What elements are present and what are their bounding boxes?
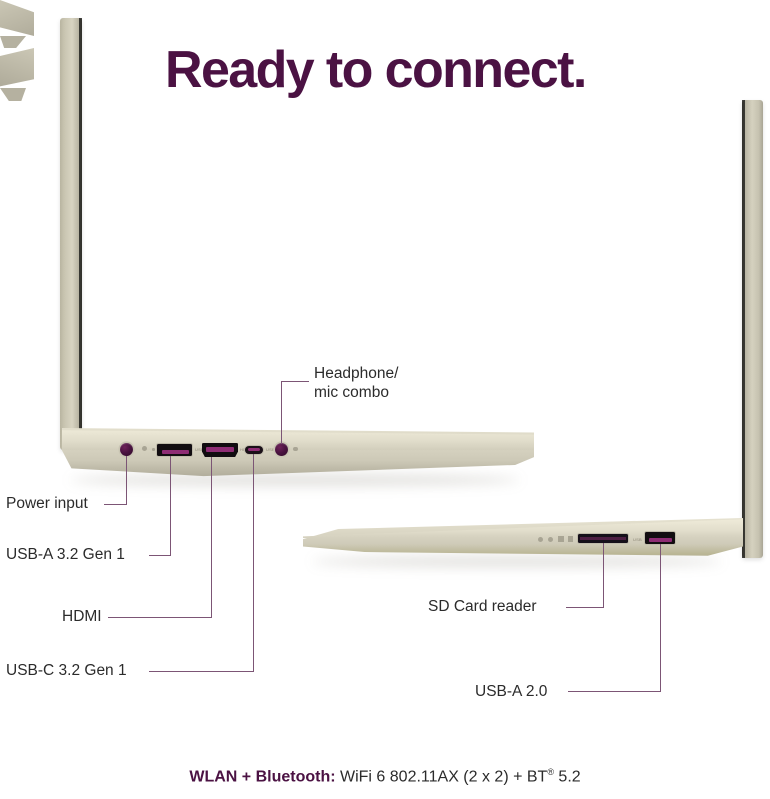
footer-detail-before-sup: WiFi 6 802.11AX (2 x 2) + BT — [336, 768, 548, 785]
footer-registered-mark: ® — [547, 767, 554, 777]
hdmi-tongue — [206, 447, 235, 452]
footer-bold-prefix: WLAN + Bluetooth: — [189, 768, 335, 785]
leader-headphone-vertical — [281, 382, 282, 444]
usb-a-20-tongue — [649, 538, 672, 542]
sd-slot-inner — [580, 537, 626, 540]
leader-sd-card-vertical — [603, 543, 604, 608]
callout-headphone-line1: Headphone/ — [314, 365, 454, 384]
port-usb-a-20 — [645, 532, 675, 544]
charge-led-icon — [152, 448, 155, 451]
page-title: Ready to connect. — [165, 44, 586, 96]
right-laptop-foot — [0, 88, 26, 101]
indicator-icon-4 — [568, 536, 573, 542]
port-headphone-mic-combo — [275, 443, 288, 456]
leader-usb-c-vertical — [253, 454, 254, 672]
leader-power-input-vertical — [126, 456, 127, 505]
callout-usb-a-20: USB-A 2.0 — [475, 683, 547, 702]
leader-usb-a-20-vertical — [660, 544, 661, 692]
left-lid-dark-edge — [79, 18, 82, 450]
silk-label-usb-right: USB — [633, 537, 642, 542]
leader-power-input-horizontal — [104, 504, 127, 505]
port-power-input — [120, 443, 133, 456]
infographic-canvas: Ready to connect. USB HDMI USB Power inp… — [0, 0, 770, 799]
indicator-icon-3 — [558, 536, 564, 542]
leader-usb-a-horizontal — [149, 555, 171, 556]
usb-c-tongue — [248, 448, 260, 451]
left-laptop-lid — [60, 18, 82, 450]
left-laptop-shadow — [70, 474, 520, 486]
right-lid-dark-edge — [742, 100, 745, 558]
power-led-icon — [142, 446, 147, 451]
callout-sd-card-reader: SD Card reader — [428, 598, 537, 617]
leader-hdmi-vertical — [211, 457, 212, 618]
callout-headphone-line2: mic combo — [314, 384, 454, 403]
port-hdmi — [202, 443, 238, 457]
headset-icon — [293, 447, 298, 451]
callout-hdmi: HDMI — [62, 608, 102, 627]
right-laptop-hinge — [0, 48, 34, 88]
callout-usb-a-32-gen1: USB-A 3.2 Gen 1 — [6, 546, 125, 565]
callout-usb-c-32-gen1: USB-C 3.2 Gen 1 — [6, 662, 127, 681]
port-usb-c-32-gen1 — [245, 446, 263, 454]
right-laptop-lid — [742, 100, 763, 558]
indicator-icon-1 — [538, 537, 543, 542]
leader-sd-card-horizontal — [566, 607, 604, 608]
left-laptop-hinge — [0, 0, 34, 36]
leader-usb-a-20-horizontal — [568, 691, 661, 692]
usb-a-tongue — [162, 450, 189, 454]
leader-usb-a-vertical — [170, 456, 171, 556]
silk-label-usb-c: USB — [266, 447, 275, 452]
leader-headphone-horizontal — [281, 381, 309, 382]
callout-headphone-mic-combo: Headphone/ mic combo — [314, 365, 454, 403]
leader-hdmi-horizontal — [108, 617, 212, 618]
indicator-icon-2 — [548, 537, 553, 542]
port-sd-card-reader — [578, 534, 628, 543]
footer-spec-line: WLAN + Bluetooth: WiFi 6 802.11AX (2 x 2… — [0, 767, 770, 786]
port-usb-a-32-gen1 — [157, 444, 192, 456]
left-laptop-foot — [0, 36, 26, 48]
footer-detail-after-sup: 5.2 — [554, 768, 581, 785]
callout-power-input: Power input — [6, 495, 88, 514]
leader-usb-c-horizontal — [149, 671, 254, 672]
